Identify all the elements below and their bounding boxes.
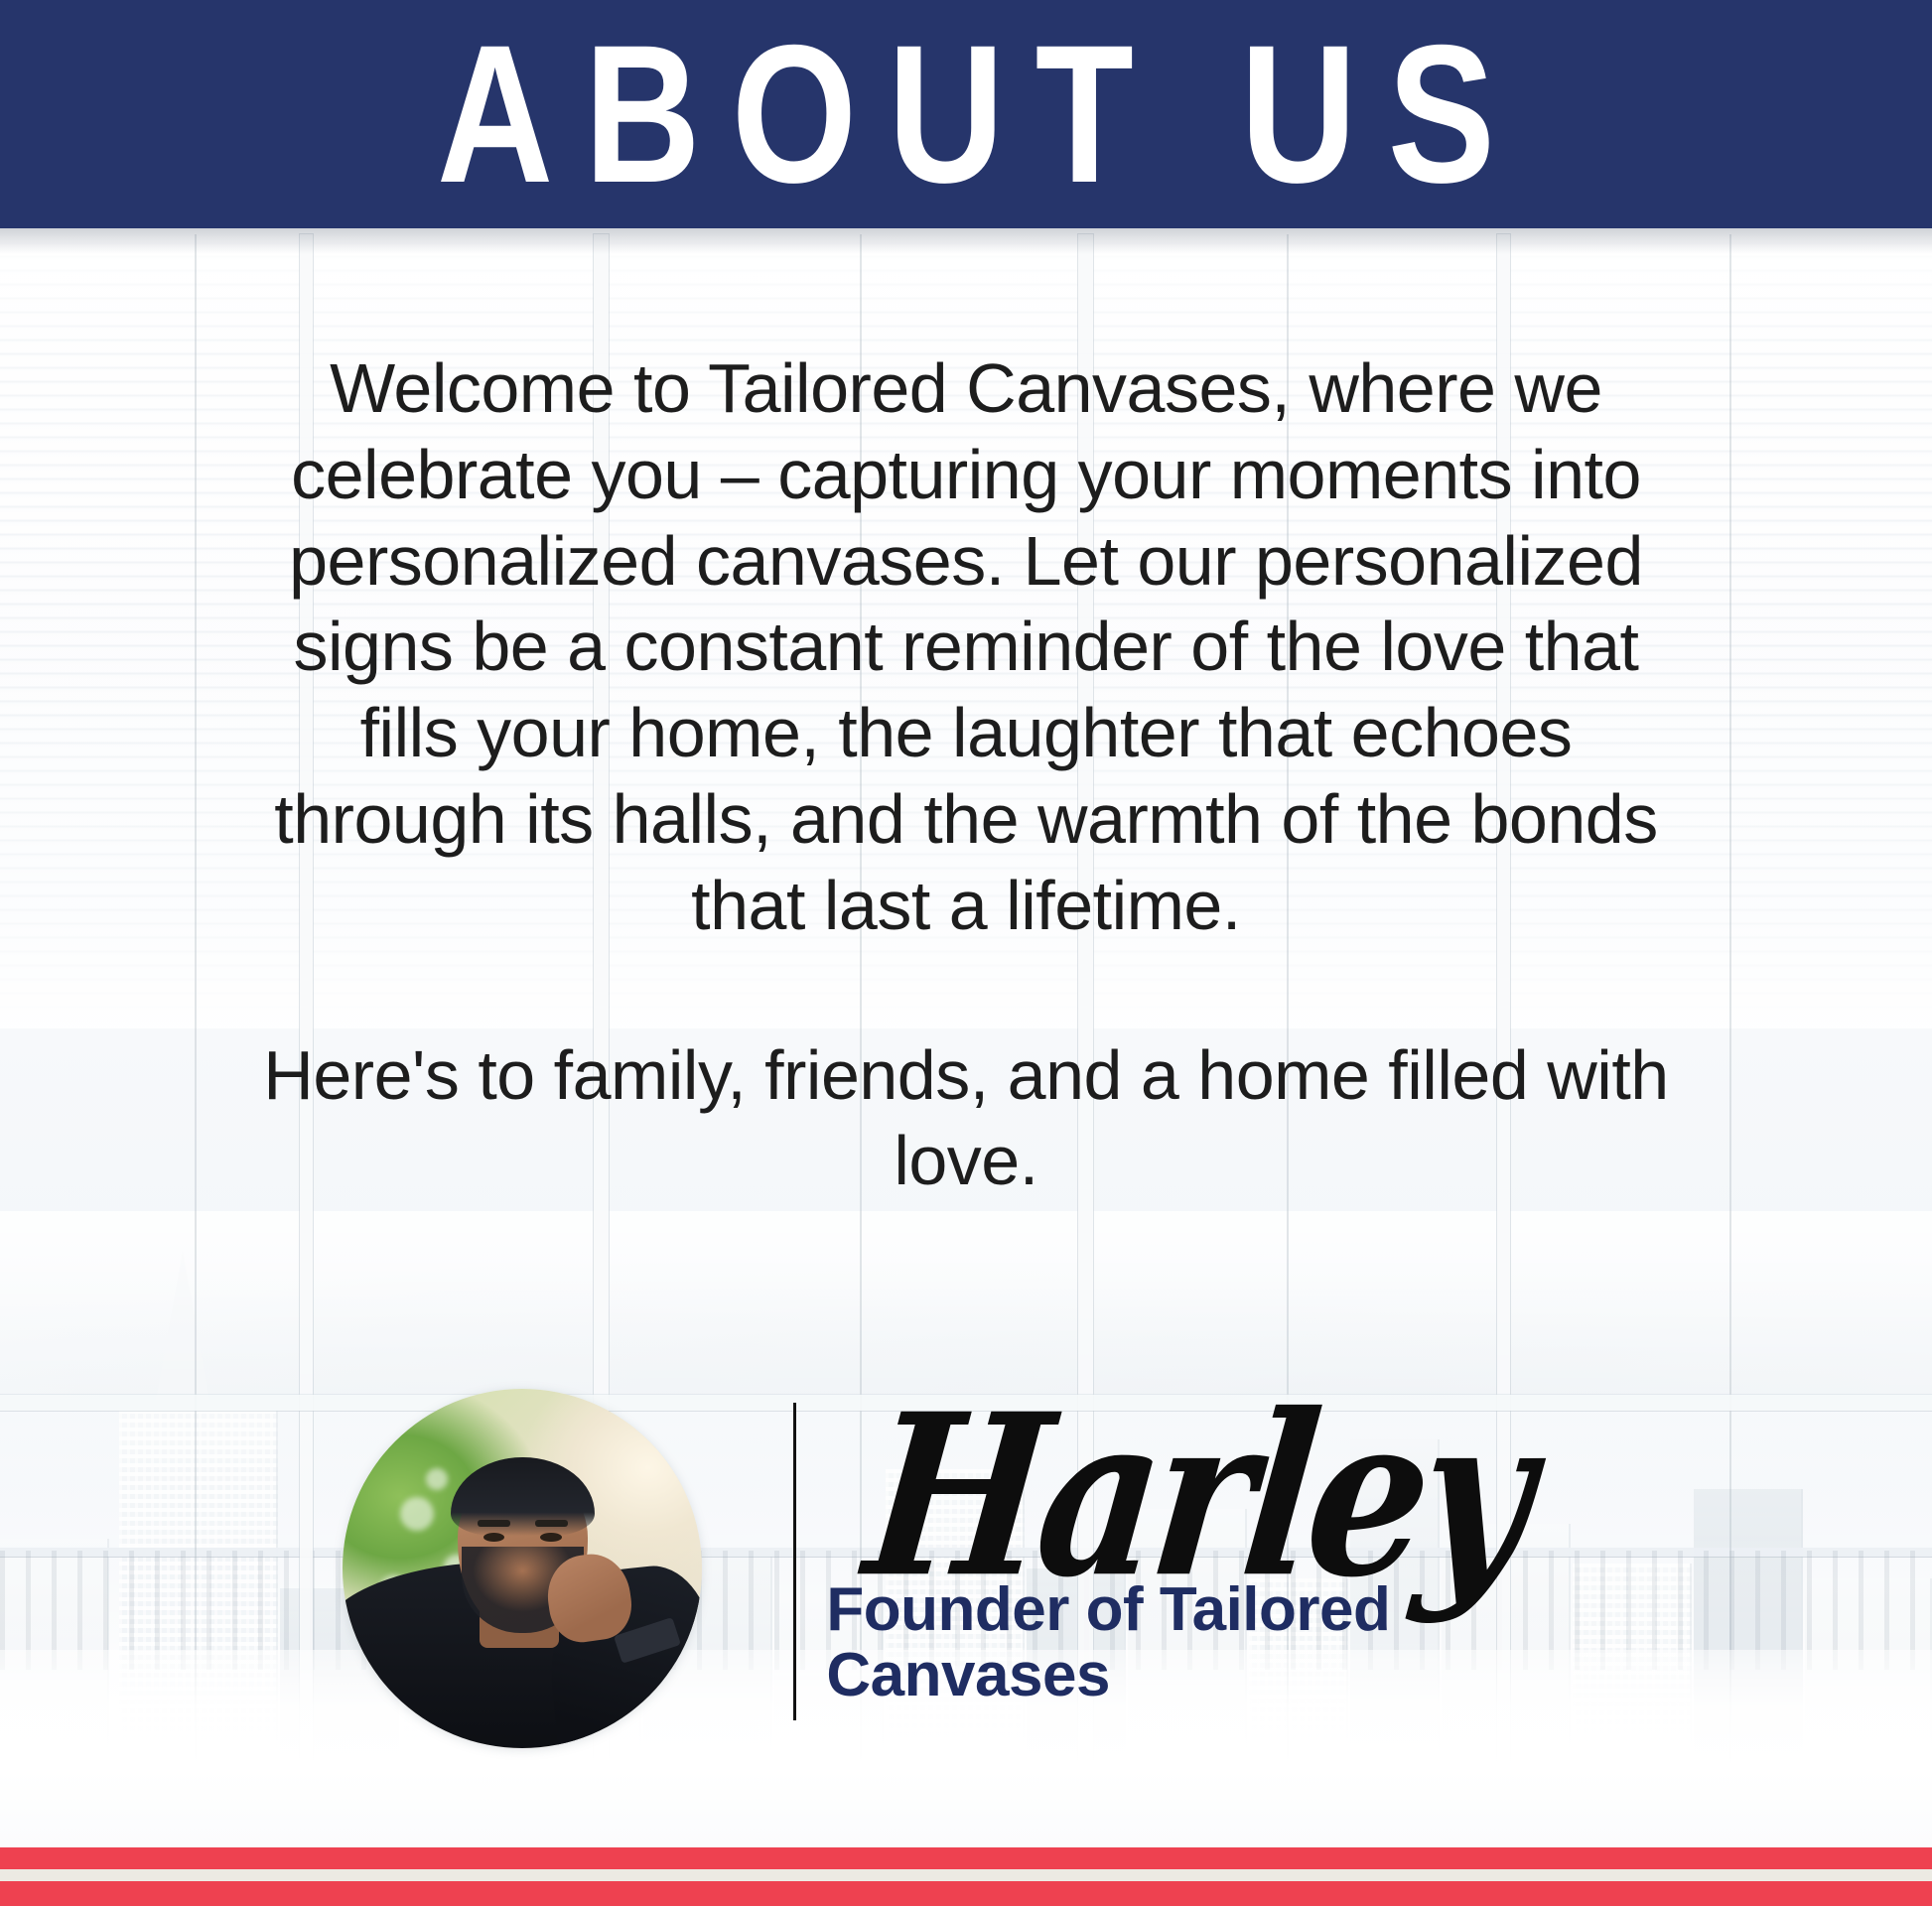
founder-role-line-1: Founder of Tailored xyxy=(826,1575,1390,1644)
avatar xyxy=(343,1389,702,1748)
paragraph-spacer xyxy=(261,949,1671,1032)
footer-bar-top xyxy=(0,1847,1932,1869)
about-copy: Welcome to Tailored Canvases, where we c… xyxy=(261,345,1671,1204)
header-banner: ABOUT US xyxy=(0,0,1932,228)
header-shadow xyxy=(0,228,1932,254)
signature-column: Harley Founder of Tailored Canvases xyxy=(826,1429,1513,1708)
about-paragraph-2: Here's to family, friends, and a home fi… xyxy=(261,1032,1671,1205)
avatar-eye xyxy=(540,1533,562,1542)
founder-signature: Harley xyxy=(860,1400,1533,1591)
bokeh-dot xyxy=(426,1468,448,1490)
founder-block: Harley Founder of Tailored Canvases xyxy=(0,1360,1932,1777)
about-us-poster: ABOUT US Welcome to Tailored Canvases, w… xyxy=(0,0,1932,1906)
founder-role-line-2: Canvases xyxy=(826,1641,1110,1709)
avatar-brow xyxy=(535,1520,568,1527)
founder-role: Founder of Tailored Canvases xyxy=(826,1577,1390,1707)
avatar-brow xyxy=(478,1520,510,1527)
avatar-eye xyxy=(483,1533,505,1542)
bokeh-dot xyxy=(400,1497,434,1531)
page-title: ABOUT US xyxy=(406,16,1526,212)
about-paragraph-1: Welcome to Tailored Canvases, where we c… xyxy=(261,345,1671,949)
footer-bar-bottom xyxy=(0,1881,1932,1906)
vertical-divider xyxy=(793,1403,796,1720)
footer-bar-gap xyxy=(0,1869,1932,1881)
